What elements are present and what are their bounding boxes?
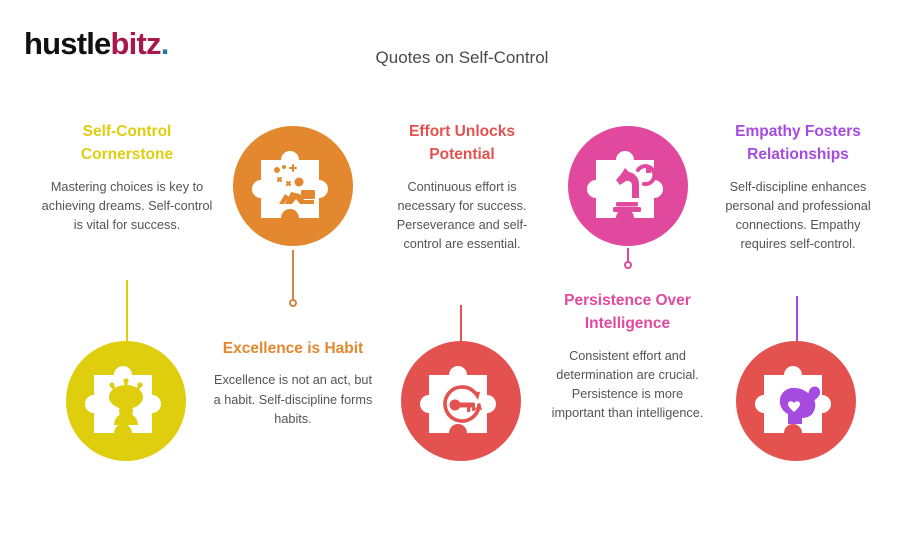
connector-stem-persistence: [627, 248, 629, 262]
connector-stem-self-control: [126, 280, 128, 342]
text-block-excellence-is-habit: Excellence is Habit Excellence is not an…: [212, 337, 374, 429]
connector-ring-excellence: [289, 299, 297, 307]
connector-ring-persistence: [624, 261, 632, 269]
node-excellence-is-habit[interactable]: [233, 126, 353, 246]
infographic-canvas: hustlebitz. Quotes on Self-Control Self-…: [0, 0, 924, 540]
body-self-control-cornerstone: Mastering choices is key to achieving dr…: [38, 178, 216, 236]
person-working-icon: [233, 126, 353, 246]
heading-excellence-is-habit: Excellence is Habit: [212, 337, 374, 360]
body-persistence-over-intelligence: Consistent effort and determination are …: [550, 347, 705, 424]
text-block-empathy-fosters-relationships: Empathy Fosters Relationships Self-disci…: [712, 120, 884, 255]
chess-knight-icon: [568, 126, 688, 246]
body-effort-unlocks-potential: Continuous effort is necessary for succe…: [382, 178, 542, 255]
heading-self-control-cornerstone: Self-Control Cornerstone: [38, 120, 216, 167]
brain-head-icon: [66, 341, 186, 461]
heading-persistence-over-intelligence: Persistence Over Intelligence: [550, 289, 705, 336]
node-self-control-cornerstone[interactable]: [66, 341, 186, 461]
page-title: Quotes on Self-Control: [0, 48, 924, 68]
node-effort-unlocks-potential[interactable]: [401, 341, 521, 461]
key-refresh-icon: [401, 341, 521, 461]
text-block-self-control-cornerstone: Self-Control Cornerstone Mastering choic…: [38, 120, 216, 235]
head-heart-icon: [736, 341, 856, 461]
body-empathy-fosters-relationships: Self-discipline enhances personal and pr…: [712, 178, 884, 255]
body-excellence-is-habit: Excellence is not an act, but a habit. S…: [212, 371, 374, 429]
text-block-effort-unlocks-potential: Effort Unlocks Potential Continuous effo…: [382, 120, 542, 255]
text-block-persistence-over-intelligence: Persistence Over Intelligence Consistent…: [550, 289, 705, 424]
connector-stem-empathy: [796, 296, 798, 346]
connector-stem-excellence: [292, 250, 294, 300]
node-persistence-over-intelligence[interactable]: [568, 126, 688, 246]
heading-empathy-fosters-relationships: Empathy Fosters Relationships: [712, 120, 884, 167]
heading-effort-unlocks-potential: Effort Unlocks Potential: [382, 120, 542, 167]
node-empathy-fosters-relationships[interactable]: [736, 341, 856, 461]
